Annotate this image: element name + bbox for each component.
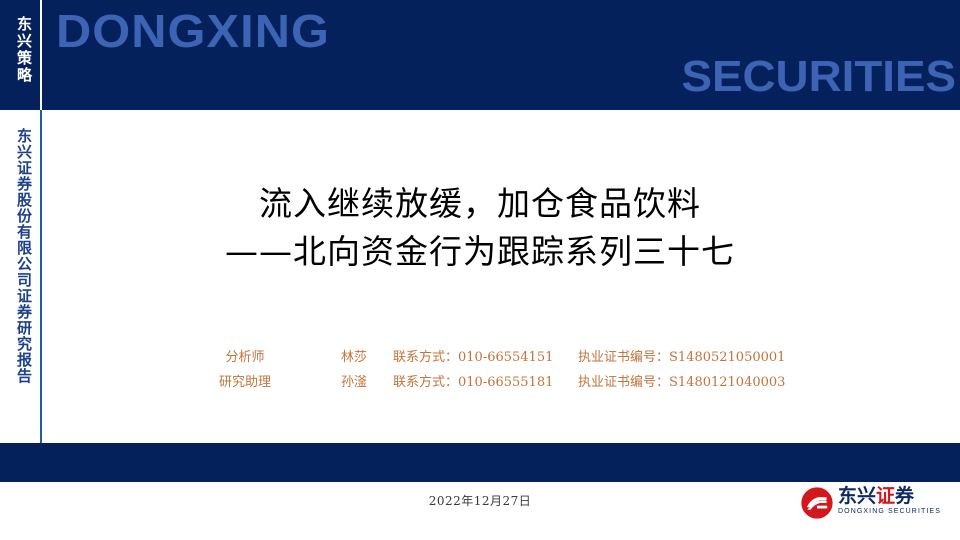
brand-wordmark-securities: SECURITIES xyxy=(681,55,956,99)
title-line-subtitle: ——北向资金行为跟踪系列三十七 xyxy=(40,228,920,276)
logo-cn-accent: 证 xyxy=(876,485,895,507)
logo-text: 东兴证券 DONGXING SECURITIES xyxy=(838,486,941,516)
analyst-certificate: 执业证书编号：S1480121040003 xyxy=(578,371,818,390)
analyst-certificate: 执业证书编号：S1480521050001 xyxy=(578,346,818,365)
report-cover-slide: DONGXING SECURITIES 东兴策略 东兴证券股份有限公司证券研究报… xyxy=(0,0,960,540)
logo-cn-suffix: 券 xyxy=(895,485,914,507)
analyst-contact: 联系方式：010-66554151 xyxy=(393,346,578,365)
logo-chinese-name: 东兴证券 xyxy=(838,486,941,507)
analyst-contact: 联系方式：010-66555181 xyxy=(393,371,578,390)
analyst-role: 研究助理 xyxy=(175,371,315,390)
analyst-info-table: 分析师 林莎 联系方式：010-66554151 执业证书编号：S1480521… xyxy=(175,346,835,396)
rail-company-label: 东兴证券股份有限公司证券研究报告 xyxy=(8,128,34,384)
analyst-role: 分析师 xyxy=(175,346,315,365)
rail-series-label: 东兴策略 xyxy=(8,16,34,84)
analyst-row: 分析师 林莎 联系方式：010-66554151 执业证书编号：S1480521… xyxy=(175,346,835,371)
analyst-row: 研究助理 孙滏 联系方式：010-66555181 执业证书编号：S148012… xyxy=(175,371,835,396)
company-logo: 东兴证券 DONGXING SECURITIES xyxy=(800,484,950,524)
footer-band xyxy=(0,443,960,482)
page-title: 流入继续放缓，加仓食品饮料 ——北向资金行为跟踪系列三十七 xyxy=(40,180,920,275)
header-band: DONGXING SECURITIES xyxy=(0,0,960,110)
logo-cn-prefix: 东兴 xyxy=(838,485,876,507)
analyst-name: 孙滏 xyxy=(315,371,393,390)
brand-wordmark-dongxing: DONGXING xyxy=(56,8,330,54)
title-line-main: 流入继续放缓，加仓食品饮料 xyxy=(40,180,920,228)
analyst-name: 林莎 xyxy=(315,346,393,365)
logo-english-name: DONGXING SECURITIES xyxy=(838,507,941,516)
rail-divider-upper xyxy=(40,0,42,110)
dongxing-circle-mark-icon xyxy=(800,486,834,520)
